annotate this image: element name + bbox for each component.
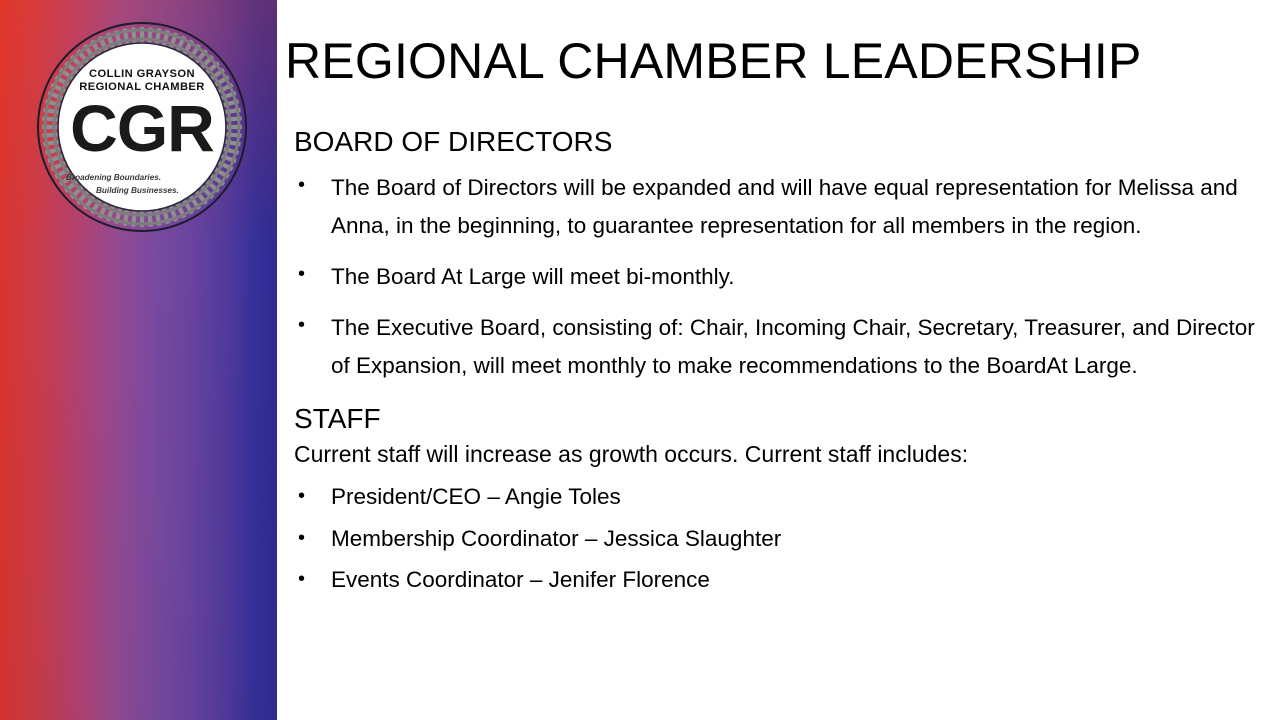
slide-content: REGIONAL CHAMBER LEADERSHIP BOARD OF DIR… <box>277 0 1280 720</box>
logo-ring-graphic <box>34 19 250 235</box>
presentation-slide: COLLIN GRAYSON REGIONAL CHAMBER CGR Broa… <box>0 0 1280 720</box>
list-item: The Board of Directors will be expanded … <box>294 169 1269 244</box>
list-item: The Executive Board, consisting of: Chai… <box>294 309 1269 384</box>
chamber-logo: COLLIN GRAYSON REGIONAL CHAMBER CGR Broa… <box>34 19 250 235</box>
list-item: Membership Coordinator – Jessica Slaught… <box>294 522 1269 556</box>
list-item: Events Coordinator – Jenifer Florence <box>294 563 1269 597</box>
section-heading-staff: STAFF <box>294 402 1269 436</box>
list-item: The Board At Large will meet bi-monthly. <box>294 258 1269 295</box>
list-item: President/CEO – Angie Toles <box>294 480 1269 514</box>
staff-intro-text: Current staff will increase as growth oc… <box>294 440 1269 470</box>
board-bullet-list: The Board of Directors will be expanded … <box>294 169 1269 384</box>
page-title: REGIONAL CHAMBER LEADERSHIP <box>285 36 1275 86</box>
staff-bullet-list: President/CEO – Angie Toles Membership C… <box>294 480 1269 597</box>
section-heading-board: BOARD OF DIRECTORS <box>294 125 1269 159</box>
slide-body: BOARD OF DIRECTORS The Board of Director… <box>294 125 1269 605</box>
